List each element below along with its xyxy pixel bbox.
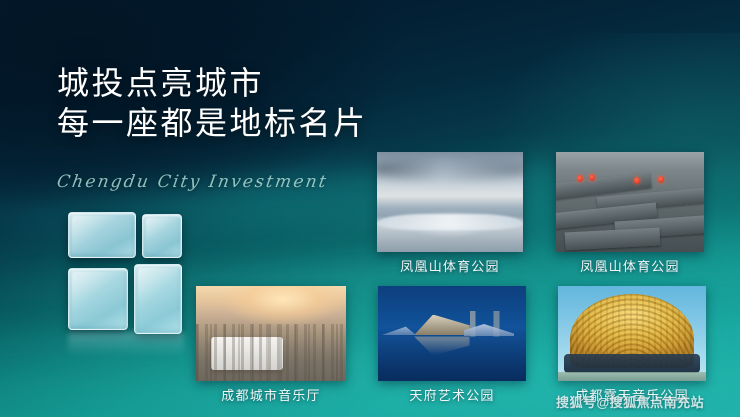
photo-caption-city-concert-hall: 成都城市音乐厅 [196, 385, 346, 404]
headline-line-2: 每一座都是地标名片 [57, 103, 368, 143]
slide-headline: 城投点亮城市 每一座都是地标名片 [57, 63, 368, 143]
photo-rooftops[interactable] [556, 152, 704, 252]
headline-line-1: 城投点亮城市 [57, 63, 368, 103]
golden-shell-amphitheatre-image [558, 286, 706, 381]
red-lantern-icon [658, 176, 664, 183]
photo-caption-rooftops: 凤凰山体育公园 [556, 256, 704, 275]
presentation-slide: 城投点亮城市 每一座都是地标名片 Chengdu City Investment… [0, 0, 740, 417]
glass-block-icon [134, 264, 182, 334]
photo-art-park[interactable] [378, 286, 526, 381]
frosted-glass-blocks-logo [68, 212, 184, 354]
photo-city-concert-hall[interactable] [196, 286, 346, 381]
red-lantern-icon [577, 175, 583, 182]
photo-caption-stadium: 凤凰山体育公园 [377, 256, 523, 275]
rooftops-image [556, 152, 704, 252]
glass-block-icon [142, 214, 182, 258]
golden-hour-cityscape-image [196, 286, 346, 381]
watermark: 搜狐号@搜狐焦点南充站 [556, 392, 704, 411]
photo-caption-art-park: 天府艺术公园 [378, 385, 526, 404]
glass-block-icon [68, 268, 128, 330]
glass-block-icon [68, 212, 136, 258]
ground-strip [558, 372, 706, 382]
red-lantern-icon [589, 174, 595, 181]
art-park-reflection-image [378, 286, 526, 381]
roof-shape [564, 228, 660, 251]
photo-stadium[interactable] [377, 152, 523, 252]
stadium-aerial-image [377, 152, 523, 252]
photo-open-air-music-park[interactable] [558, 286, 706, 381]
logo-reflection [68, 332, 184, 356]
script-subtitle: Chengdu City Investment [55, 172, 329, 192]
